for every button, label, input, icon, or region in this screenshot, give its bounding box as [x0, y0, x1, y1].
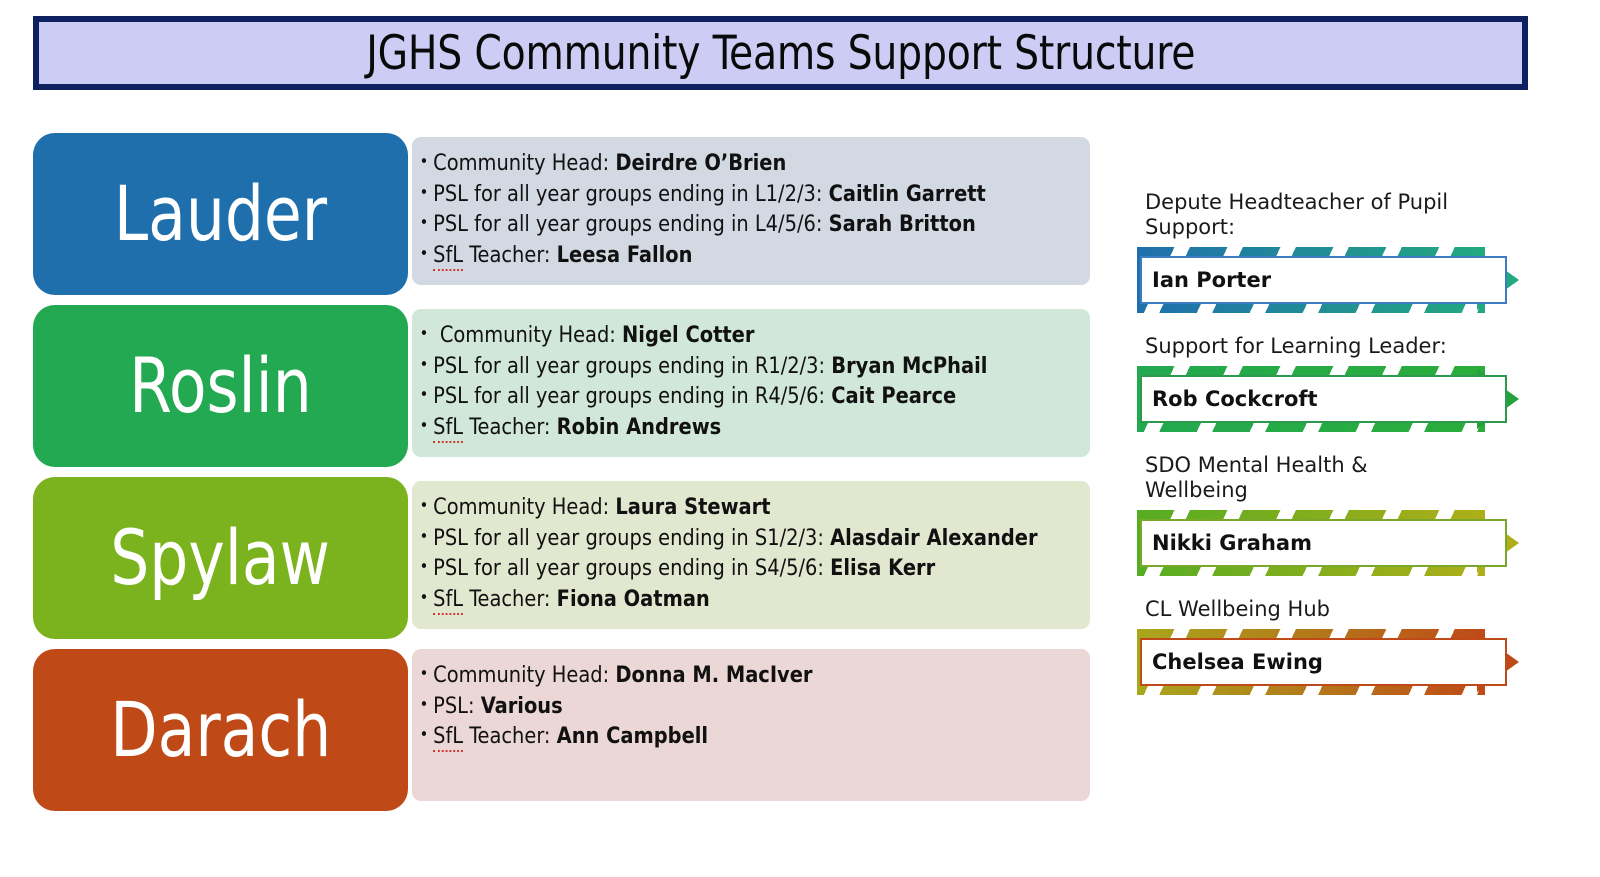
staff-role-label: Community Head: — [433, 662, 609, 688]
staff-name: Donna M. MacIver — [615, 662, 812, 688]
staff-role-label: Community Head: — [440, 322, 616, 348]
staff-name: Alasdair Alexander — [830, 525, 1037, 551]
team-staff-item: SfL Teacher: Ann Campbell — [412, 722, 1063, 751]
team-row: Community Head: Nigel CotterPSL for all … — [0, 277, 1110, 449]
team-row: Community Head: Laura StewartPSL for all… — [0, 449, 1110, 621]
staff-role-label: PSL for all year groups ending in L1/2/3… — [433, 181, 822, 207]
team-staff-item: PSL for all year groups ending in L4/5/6… — [412, 210, 1063, 239]
arrow-graphic: Rob Cockcroft — [1137, 366, 1527, 432]
team-staff-item: PSL for all year groups ending in R4/5/6… — [412, 382, 1063, 411]
team-chip-lauder[interactable]: Lauder — [33, 133, 408, 295]
role-holder-box[interactable]: Chelsea Ewing — [1140, 638, 1507, 686]
support-role-caption: Support for Learning Leader: — [1145, 334, 1475, 359]
team-staff-list: Community Head: Nigel CotterPSL for all … — [412, 321, 1090, 441]
spellcheck-underline: SfL — [433, 723, 463, 752]
staff-role-label: PSL for all year groups ending in S4/5/6… — [433, 555, 824, 581]
support-role-caption: Depute Headteacher of Pupil Support: — [1145, 190, 1475, 240]
staff-role-label: SfL Teacher: — [433, 242, 550, 271]
team-staff-item: PSL for all year groups ending in L1/2/3… — [412, 180, 1063, 209]
team-staff-item: Community Head: Nigel Cotter — [412, 321, 1063, 350]
community-teams-list: Community Head: Deirdre O’BrienPSL for a… — [0, 105, 1110, 793]
team-detail-panel: Community Head: Laura StewartPSL for all… — [412, 481, 1090, 629]
team-chip-label: Lauder — [114, 178, 327, 251]
team-detail-panel: Community Head: Donna M. MacIverPSL: Var… — [412, 649, 1090, 801]
staff-role-label: PSL for all year groups ending in L4/5/6… — [433, 211, 822, 237]
staff-role-label: PSL for all year groups ending in S1/2/3… — [433, 525, 824, 551]
staff-name: Deirdre O’Brien — [615, 150, 786, 176]
team-detail-panel: Community Head: Nigel CotterPSL for all … — [412, 309, 1090, 457]
role-holder-box[interactable]: Nikki Graham — [1140, 519, 1507, 567]
staff-name: Fiona Oatman — [557, 586, 710, 612]
team-staff-item: PSL for all year groups ending in S1/2/3… — [412, 524, 1063, 553]
spellcheck-underline: SfL — [433, 414, 463, 443]
role-holder-name: Rob Cockcroft — [1142, 387, 1318, 411]
staff-role-label: SfL Teacher: — [433, 723, 550, 752]
spellcheck-underline: SfL — [433, 586, 463, 615]
team-staff-list: Community Head: Laura StewartPSL for all… — [412, 493, 1090, 613]
team-staff-item: PSL: Various — [412, 692, 1063, 721]
team-staff-item: PSL for all year groups ending in R1/2/3… — [412, 352, 1063, 381]
page-title: JGHS Community Teams Support Structure — [366, 26, 1195, 81]
support-role-caption: CL Wellbeing Hub — [1145, 597, 1475, 622]
arrow-graphic: Ian Porter — [1137, 247, 1527, 313]
team-row: Community Head: Deirdre O’BrienPSL for a… — [0, 105, 1110, 277]
role-holder-name: Ian Porter — [1142, 268, 1271, 292]
staff-name: Elisa Kerr — [830, 555, 935, 581]
arrow-graphic: Nikki Graham — [1137, 510, 1527, 576]
team-detail-panel: Community Head: Deirdre O’BrienPSL for a… — [412, 137, 1090, 285]
staff-name: Sarah Britton — [829, 211, 976, 237]
page-title-banner: JGHS Community Teams Support Structure — [33, 16, 1528, 90]
team-row: Community Head: Donna M. MacIverPSL: Var… — [0, 621, 1110, 793]
staff-name: Various — [481, 693, 563, 719]
team-staff-list: Community Head: Deirdre O’BrienPSL for a… — [412, 149, 1090, 269]
staff-name: Caitlin Garrett — [829, 181, 986, 207]
team-staff-item: Community Head: Deirdre O’Brien — [412, 149, 1063, 178]
staff-name: Laura Stewart — [615, 494, 770, 520]
staff-role-label: SfL Teacher: — [433, 414, 550, 443]
staff-name: Nigel Cotter — [622, 322, 754, 348]
team-staff-item: PSL for all year groups ending in S4/5/6… — [412, 554, 1063, 583]
staff-name: Ann Campbell — [557, 723, 708, 749]
staff-name: Leesa Fallon — [557, 242, 693, 268]
role-holder-name: Chelsea Ewing — [1142, 650, 1323, 674]
team-staff-item: SfL Teacher: Fiona Oatman — [412, 585, 1063, 614]
staff-role-label: PSL: — [433, 693, 474, 719]
support-roles-column: Depute Headteacher of Pupil Support:Ian … — [1137, 190, 1557, 716]
team-staff-list: Community Head: Donna M. MacIverPSL: Var… — [412, 661, 1090, 751]
team-staff-item: SfL Teacher: Robin Andrews — [412, 413, 1063, 442]
team-staff-item: SfL Teacher: Leesa Fallon — [412, 241, 1063, 270]
team-chip-darach[interactable]: Darach — [33, 649, 408, 811]
staff-name: Cait Pearce — [831, 383, 956, 409]
team-staff-item: Community Head: Donna M. MacIver — [412, 661, 1063, 690]
team-chip-label: Roslin — [129, 350, 312, 423]
support-role-banner: Depute Headteacher of Pupil Support:Ian … — [1137, 190, 1557, 313]
staff-role-label: PSL for all year groups ending in R1/2/3… — [433, 353, 825, 379]
support-role-banner: Support for Learning Leader:Rob Cockcrof… — [1137, 334, 1557, 432]
support-role-banner: SDO Mental Health & WellbeingNikki Graha… — [1137, 453, 1557, 576]
staff-role-label: Community Head: — [433, 494, 609, 520]
team-chip-roslin[interactable]: Roslin — [33, 305, 408, 467]
team-staff-item: Community Head: Laura Stewart — [412, 493, 1063, 522]
staff-name: Robin Andrews — [557, 414, 722, 440]
support-role-banner: CL Wellbeing HubChelsea Ewing — [1137, 597, 1557, 695]
staff-role-label: SfL Teacher: — [433, 586, 550, 615]
staff-name: Bryan McPhail — [831, 353, 987, 379]
spellcheck-underline: SfL — [433, 242, 463, 271]
role-holder-name: Nikki Graham — [1142, 531, 1312, 555]
team-chip-spylaw[interactable]: Spylaw — [33, 477, 408, 639]
role-holder-box[interactable]: Rob Cockcroft — [1140, 375, 1507, 423]
team-chip-label: Spylaw — [111, 522, 331, 595]
arrow-graphic: Chelsea Ewing — [1137, 629, 1527, 695]
staff-role-label: PSL for all year groups ending in R4/5/6… — [433, 383, 825, 409]
team-chip-label: Darach — [110, 694, 331, 767]
staff-role-label: Community Head: — [433, 150, 609, 176]
support-role-caption: SDO Mental Health & Wellbeing — [1145, 453, 1475, 503]
role-holder-box[interactable]: Ian Porter — [1140, 256, 1507, 304]
